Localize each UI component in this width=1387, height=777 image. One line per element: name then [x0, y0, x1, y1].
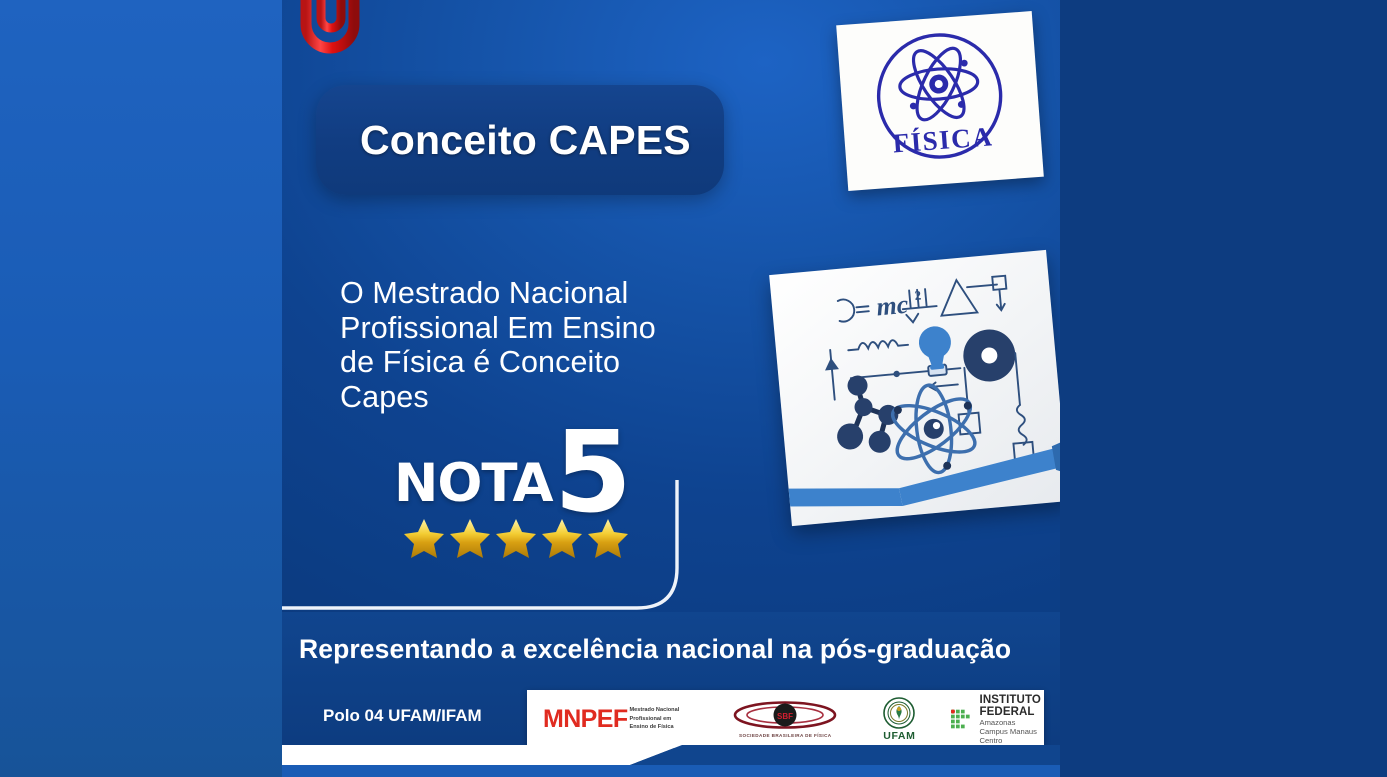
- grade-badge: NOTA 5: [394, 425, 644, 560]
- if-title: INSTITUTO FEDERAL: [980, 694, 1054, 718]
- mnpef-logo: MNPEF Mestrado Nacional Profissional em …: [527, 690, 679, 748]
- sbf-logo: SBF SOCIEDADE BRASILEIRA DE FÍSICA: [731, 690, 839, 748]
- headline-line: de Física é Conceito: [340, 345, 740, 380]
- ufam-logo: UFAM: [883, 690, 915, 748]
- svg-text:SBF: SBF: [777, 712, 793, 721]
- instituto-federal-logo: INSTITUTO FEDERAL Amazonas Campus Manaus…: [951, 690, 1053, 748]
- ufam-wordmark: UFAM: [883, 730, 915, 742]
- bottom-base-band: [282, 765, 1060, 777]
- star-icon: [402, 517, 446, 559]
- star-rating: [402, 517, 630, 559]
- mnpef-subline: Mestrado Nacional: [630, 706, 680, 714]
- star-icon: [586, 517, 630, 559]
- mnpef-subline: Ensino de Física: [630, 723, 680, 731]
- headline: O Mestrado Nacional Profissional Em Ensi…: [340, 276, 740, 414]
- footer-strip: Representando a excelência nacional na p…: [282, 612, 1060, 745]
- mnpef-wordmark: MNPEF: [543, 705, 628, 734]
- background-left-band: [0, 0, 283, 777]
- ufam-seal-icon: [883, 697, 915, 729]
- tagline: Representando a excelência nacional na p…: [299, 634, 1011, 665]
- physics-illustration: mc 2: [769, 250, 1060, 526]
- poster-panel: Conceito CAPES FÍSICA O Mestrado Naciona…: [282, 0, 1060, 777]
- headline-line: Profissional Em Ensino: [340, 311, 740, 346]
- if-grid-icon: [951, 704, 972, 734]
- mnpef-subline: Profissional em: [630, 715, 680, 723]
- mnpef-subtext: Mestrado Nacional Profissional em Ensino…: [630, 706, 680, 731]
- partner-logo-bar: MNPEF Mestrado Nacional Profissional em …: [527, 690, 1044, 748]
- page-title: Conceito CAPES: [316, 117, 691, 164]
- atom-icon: FÍSICA: [849, 20, 1032, 182]
- title-pill: Conceito CAPES: [316, 85, 724, 195]
- grade-number: 5: [554, 417, 632, 529]
- if-subtitle-campus: Campus Manaus Centro: [980, 727, 1054, 745]
- physics-illustration-card: mc 2: [769, 250, 1060, 526]
- headline-line: O Mestrado Nacional: [340, 276, 740, 311]
- grade-word: NOTA: [394, 453, 552, 514]
- formula-text: mc: [875, 290, 910, 322]
- fisica-logo-card: FÍSICA: [836, 11, 1044, 191]
- star-icon: [494, 517, 538, 559]
- star-icon: [448, 517, 492, 559]
- paperclip-icon: [290, 0, 374, 86]
- formula-exponent: 2: [914, 287, 922, 303]
- sbf-mark-icon: SBF: [731, 701, 839, 731]
- if-subtitle-state: Amazonas: [980, 718, 1054, 727]
- sbf-caption: SOCIEDADE BRASILEIRA DE FÍSICA: [739, 733, 831, 738]
- background-right-band: [1060, 0, 1387, 777]
- polo-label: Polo 04 UFAM/IFAM: [323, 706, 482, 726]
- lightbulb-icon: [918, 325, 954, 371]
- diagonal-stripe: [282, 745, 1060, 765]
- star-icon: [540, 517, 584, 559]
- headline-line: Capes: [340, 380, 740, 415]
- fisica-logo-label: FÍSICA: [892, 121, 994, 158]
